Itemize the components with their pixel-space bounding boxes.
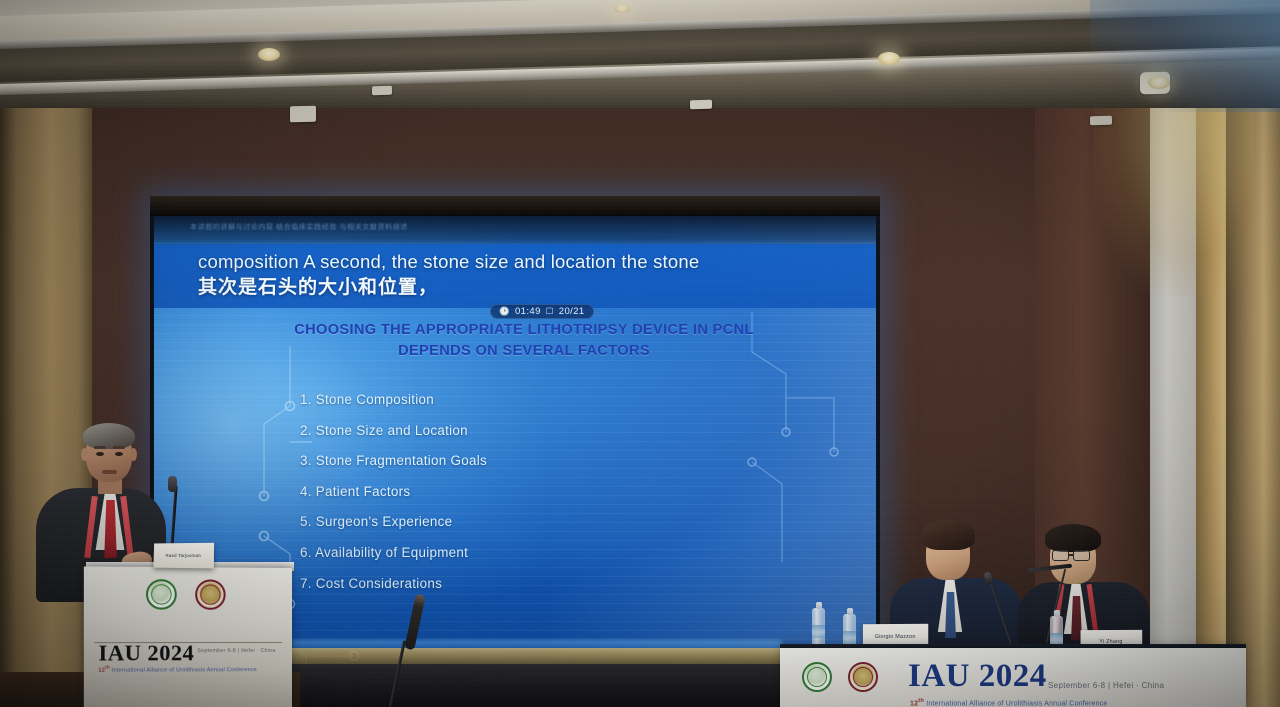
ceiling-spotlight [614, 4, 630, 13]
live-caption-overlay: composition A second, the stone size and… [154, 244, 876, 308]
ceiling-spotlight [258, 48, 280, 61]
slide-list-item: 6. Availability of Equipment [300, 545, 720, 560]
iau-maroon-gold-seal-logo [848, 662, 878, 692]
slide-list-item: 7. Cost Considerations [300, 576, 720, 591]
panelist-hair [921, 520, 975, 550]
speaker-hair [83, 423, 135, 449]
page-icon: ☐ [546, 306, 554, 317]
track-clip [372, 86, 392, 96]
speaker-eyebrow-left [94, 446, 106, 449]
eyeglasses-bridge [1068, 554, 1074, 556]
wall-panel-cream [1150, 100, 1198, 707]
slide-title: CHOOSING THE APPROPRIATE LITHOTRIPSY DEV… [274, 320, 774, 361]
caption-english: composition A second, the stone size and… [198, 250, 868, 273]
podium-event-title: IAU 2024 [98, 640, 194, 667]
podium-edition-suffix: th [105, 665, 110, 670]
podium-logo-group [146, 579, 226, 610]
podium-event-tagline: 12th International Alliance of Urolithia… [98, 664, 256, 673]
slide-list-item: 1. Stone Composition [300, 392, 720, 407]
speaker-eyebrow-right [113, 446, 125, 449]
slide-bullet-list: 1. Stone Composition 2. Stone Size and L… [300, 392, 720, 606]
led-screen-top-shadow [150, 196, 880, 216]
banner-edition-number: 12 [910, 700, 918, 707]
speaker-ear-right [130, 448, 137, 461]
wall-pillar-left [0, 60, 92, 707]
banner-logo-group [802, 662, 878, 692]
speaker-eye-right [115, 452, 123, 456]
bottle-label [812, 625, 825, 638]
banner-event-tagline: 12th International Alliance of Urolithia… [910, 698, 1108, 707]
eyeglasses-left-lens-icon [1052, 550, 1069, 561]
ceiling-blue-tint [1090, 0, 1280, 112]
slide-list-item: 3. Stone Fragmentation Goals [300, 453, 720, 468]
track-clip [690, 100, 712, 110]
banner-event-meta: September 6-8 | Hefei · China [1048, 681, 1164, 690]
banner-edition-suffix: th [918, 698, 924, 704]
track-clip [1090, 116, 1112, 126]
panel-table-banner: IAU 2024 September 6-8 | Hefei · China 1… [780, 648, 1246, 707]
water-bottle[interactable] [812, 608, 825, 648]
podium-event-meta: September 6-8 | Hefei · China [197, 648, 275, 654]
speaker-ear-left [81, 448, 88, 461]
podium-microphone [168, 476, 177, 492]
eyeglasses-right-lens-icon [1073, 550, 1090, 561]
panelist-hair [1045, 524, 1101, 552]
wall-pillar-right [1226, 60, 1280, 707]
iau-green-seal-logo [146, 579, 177, 610]
ceiling [0, 0, 1280, 108]
track-clip [290, 106, 316, 123]
podium-tagline-text: International Alliance of Urolithiasis A… [112, 667, 257, 674]
ceiling-spotlight [878, 52, 900, 65]
slide-list-item: 2. Stone Size and Location [300, 423, 720, 438]
iau-green-seal-logo [802, 662, 832, 692]
podium: IAU 2024 September 6-8 | Hefei · China 1… [84, 566, 292, 707]
stage-front-band [292, 664, 782, 707]
bottle-label [843, 631, 856, 644]
nameplate-text: Giorgio Mazzon [875, 633, 916, 639]
timer-badge: 🕑 01:49 ☐ 20/21 [490, 304, 594, 319]
banner-tagline-text: International Alliance of Urolithiasis A… [926, 700, 1107, 707]
iau-maroon-gold-seal-logo [195, 579, 225, 609]
conference-room-photo: 本讲题的讲解与讨论内容 结合临床实践经验 与相关文献资料综述 compositi… [0, 0, 1280, 707]
banner-event-title: IAU 2024 [908, 658, 1047, 695]
caption-chinese: 其次是石头的大小和位置， [198, 276, 868, 300]
slide-counter: 20/21 [559, 306, 585, 317]
elapsed-time: 01:49 [515, 306, 541, 317]
faint-background-text: 本讲题的讲解与讨论内容 结合临床实践经验 与相关文献资料综述 [190, 222, 866, 232]
clock-icon: 🕑 [499, 306, 510, 317]
slide-list-item: 4. Patient Factors [300, 484, 720, 499]
podium-nameplate: Raed Tarjouman [153, 543, 214, 569]
speaker-eye-left [96, 452, 104, 456]
speaker-mouth [102, 470, 117, 474]
slide-list-item: 5. Surgeon's Experience [300, 514, 720, 529]
podium-nameplate-text: Raed Tarjouman [166, 553, 201, 558]
